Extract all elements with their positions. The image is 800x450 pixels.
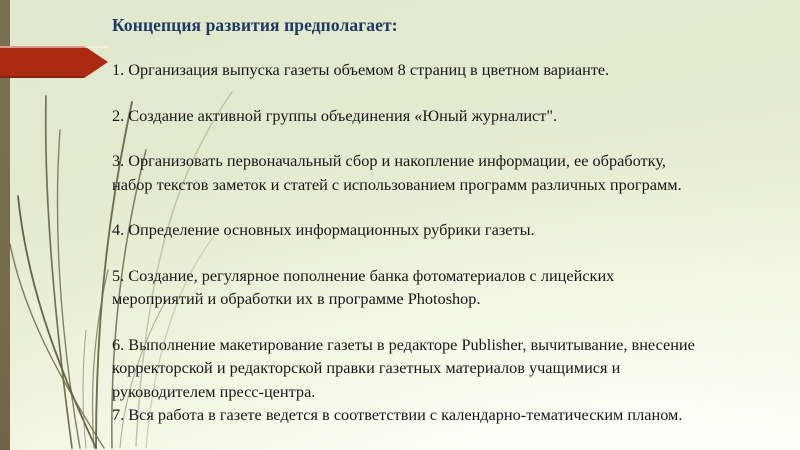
objective-item-3: 3. Организовать первоначальный сбор и на… [112, 149, 788, 196]
arrow-highlight [0, 46, 108, 48]
objective-item-1: 1. Организация выпуска газеты объемом 8 … [112, 58, 788, 82]
objective-item-5: 5. Создание, регулярное пополнение банка… [112, 264, 788, 311]
slide-title: Концепция развития предполагает: [112, 14, 788, 36]
objective-item-6: 6. Выполнение макетирование газеты в ред… [112, 333, 788, 404]
objectives-list: 1. Организация выпуска газеты объемом 8 … [112, 58, 788, 427]
presentation-slide: Концепция развития предполагает: 1. Орга… [0, 0, 800, 450]
red-arrow-banner [0, 46, 108, 78]
objective-item-7: 7. Вся работа в газете ведется в соответ… [112, 403, 788, 427]
slide-content: Концепция развития предполагает: 1. Орга… [112, 14, 788, 449]
arrow-shape-icon [0, 46, 108, 78]
arrow-shadow [0, 76, 84, 78]
objective-item-2: 2. Создание активной группы объединения … [112, 104, 788, 128]
objective-item-4: 4. Определение основных информационных р… [112, 218, 788, 242]
